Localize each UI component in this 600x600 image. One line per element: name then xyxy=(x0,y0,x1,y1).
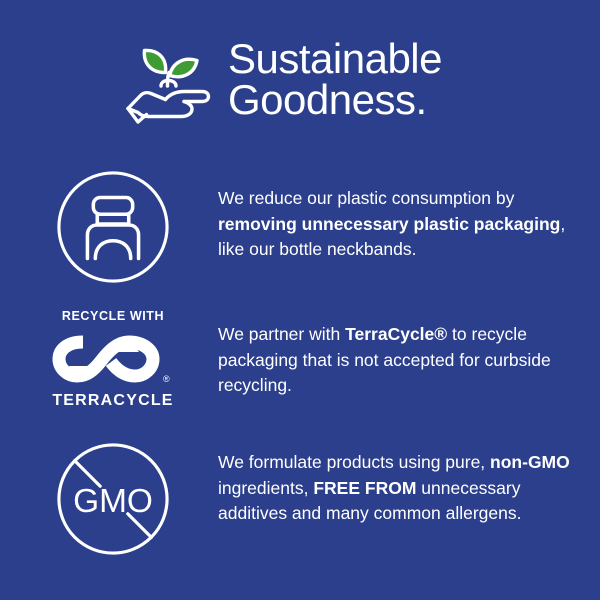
text-segment: ingredients, xyxy=(218,478,313,498)
page-title: Sustainable Goodness. xyxy=(228,38,442,126)
no-gmo-icon: GMO xyxy=(54,440,172,558)
terracycle-bottom-label: TERRACYCLE xyxy=(43,393,183,409)
feature-row-plastic: We reduce our plastic consumption by rem… xyxy=(0,168,600,286)
text-segment-bold: removing unnecessary plastic packaging xyxy=(218,214,560,234)
feature-row-terracycle: RECYCLE WITH ® TERRACYCLE xyxy=(0,308,600,409)
poster-header: Sustainable Goodness. xyxy=(0,22,600,142)
bottle-in-circle-icon xyxy=(54,168,172,286)
infinity-arrows-icon: ® xyxy=(43,328,183,390)
text-segment: We reduce our plastic consumption by xyxy=(218,188,514,208)
feature-row-gmo: GMO We formulate products using pure, no… xyxy=(0,440,600,558)
text-segment: We formulate products using pure, xyxy=(218,452,490,472)
icon-cell-bottle xyxy=(0,168,218,286)
text-segment: We partner with xyxy=(218,324,345,344)
feature-text-terracycle: We partner with TerraCycle® to recycle p… xyxy=(218,308,600,399)
text-segment-bold: non-GMO xyxy=(490,452,570,472)
icon-cell-terracycle: RECYCLE WITH ® TERRACYCLE xyxy=(0,308,218,409)
terracycle-top-label: RECYCLE WITH xyxy=(43,310,183,323)
registered-mark: ® xyxy=(163,374,170,384)
terracycle-logo: RECYCLE WITH ® TERRACYCLE xyxy=(43,310,183,409)
feature-text-plastic: We reduce our plastic consumption by rem… xyxy=(218,168,600,263)
feature-text-gmo: We formulate products using pure, non-GM… xyxy=(218,440,600,527)
gmo-icon-label: GMO xyxy=(73,483,153,520)
text-segment-bold: FREE FROM xyxy=(313,478,416,498)
icon-cell-gmo: GMO xyxy=(0,440,218,558)
sustainable-goodness-poster: Sustainable Goodness. We reduce our plas… xyxy=(0,0,600,600)
text-segment-bold: TerraCycle® xyxy=(345,324,447,344)
hand-holding-plant-icon xyxy=(118,30,222,134)
